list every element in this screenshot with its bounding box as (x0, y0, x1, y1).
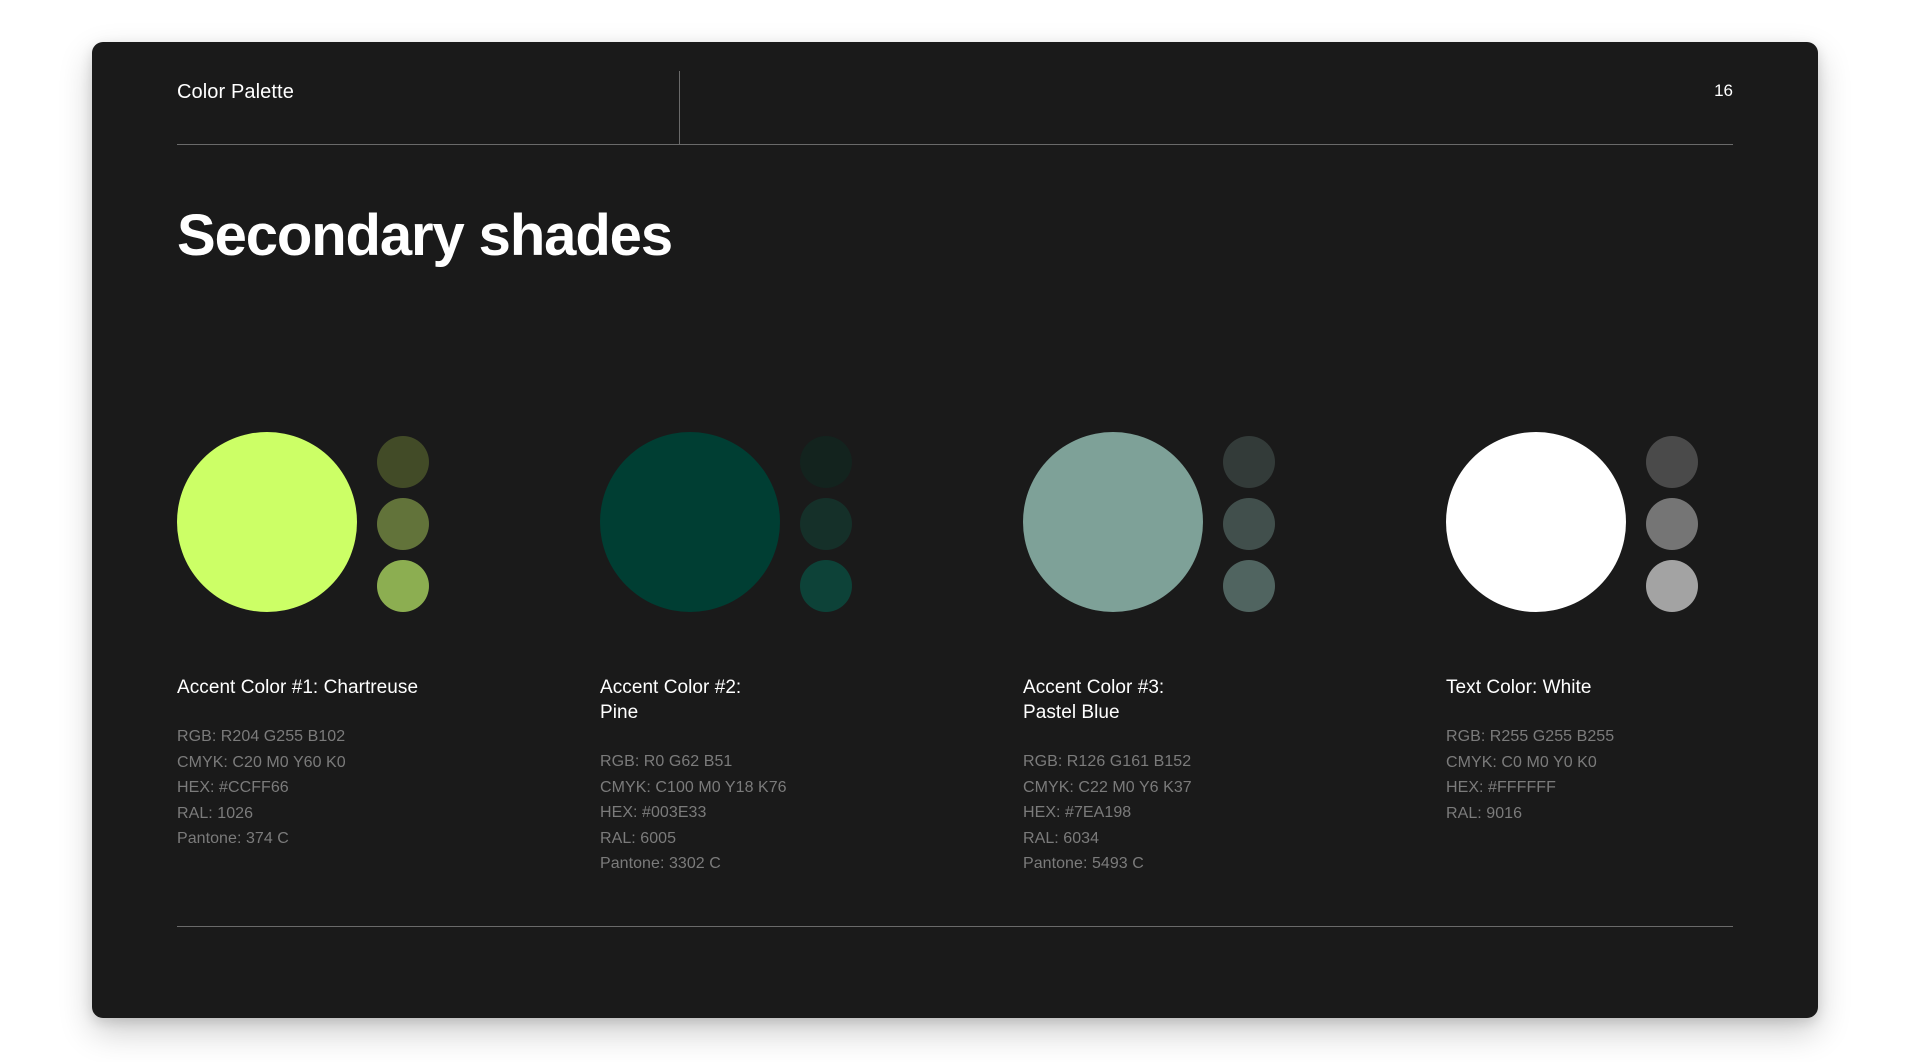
header-vertical-divider (679, 71, 680, 145)
palette-grid: Accent Color #1: ChartreuseRGB: R204 G25… (177, 432, 1733, 877)
header-title: Color Palette (177, 81, 294, 104)
swatch-shade-list (800, 432, 852, 612)
swatch-spec-line: RAL: 6034 (1023, 826, 1446, 852)
swatch-name: Accent Color #2: Pine (600, 675, 1023, 725)
swatch-spec-line: HEX: #7EA198 (1023, 800, 1446, 826)
page-title: Secondary shades (177, 204, 672, 268)
swatch-main-circle[interactable] (600, 432, 780, 612)
swatch-cluster (600, 432, 1023, 618)
swatch-shade-circle[interactable] (377, 560, 429, 612)
swatch-specs: RGB: R0 G62 B51CMYK: C100 M0 Y18 K76HEX:… (600, 749, 1023, 877)
footer-divider (177, 926, 1733, 927)
swatch-spec-line: HEX: #FFFFFF (1446, 775, 1818, 801)
slide-header: Color Palette 16 (177, 42, 1733, 145)
swatch-shade-circle[interactable] (1646, 498, 1698, 550)
swatch-spec-line: Pantone: 3302 C (600, 851, 1023, 877)
swatch-specs: RGB: R126 G161 B152CMYK: C22 M0 Y6 K37HE… (1023, 749, 1446, 877)
swatch-shade-circle[interactable] (1646, 436, 1698, 488)
swatch-specs: RGB: R255 G255 B255CMYK: C0 M0 Y0 K0HEX:… (1446, 724, 1818, 826)
palette-column: Accent Color #3: Pastel BlueRGB: R126 G1… (1023, 432, 1446, 877)
swatch-spec-line: CMYK: C20 M0 Y60 K0 (177, 750, 600, 776)
swatch-spec-line: Pantone: 5493 C (1023, 851, 1446, 877)
swatch-spec-line: CMYK: C22 M0 Y6 K37 (1023, 775, 1446, 801)
swatch-shade-circle[interactable] (1223, 436, 1275, 488)
swatch-shade-list (1646, 432, 1698, 612)
swatch-shade-circle[interactable] (800, 560, 852, 612)
swatch-shade-list (1223, 432, 1275, 612)
slide-card: Color Palette 16 Secondary shades Accent… (92, 42, 1818, 1018)
swatch-spec-line: RAL: 6005 (600, 826, 1023, 852)
swatch-shade-circle[interactable] (800, 498, 852, 550)
swatch-cluster (1446, 432, 1818, 618)
swatch-cluster (1023, 432, 1446, 618)
swatch-shade-circle[interactable] (377, 436, 429, 488)
swatch-shade-circle[interactable] (1223, 560, 1275, 612)
swatch-spec-line: RAL: 9016 (1446, 801, 1818, 827)
swatch-main-circle[interactable] (1446, 432, 1626, 612)
swatch-spec-line: CMYK: C0 M0 Y0 K0 (1446, 750, 1818, 776)
header-divider (177, 144, 1733, 145)
swatch-name: Accent Color #1: Chartreuse (177, 675, 600, 700)
swatch-spec-line: HEX: #CCFF66 (177, 775, 600, 801)
swatch-main-circle[interactable] (1023, 432, 1203, 612)
palette-column: Accent Color #1: ChartreuseRGB: R204 G25… (177, 432, 600, 877)
swatch-spec-line: CMYK: C100 M0 Y18 K76 (600, 775, 1023, 801)
swatch-shade-circle[interactable] (377, 498, 429, 550)
swatch-main-circle[interactable] (177, 432, 357, 612)
swatch-specs: RGB: R204 G255 B102CMYK: C20 M0 Y60 K0HE… (177, 724, 600, 852)
swatch-shade-circle[interactable] (1223, 498, 1275, 550)
swatch-cluster (177, 432, 600, 618)
page-number: 16 (1714, 81, 1733, 101)
swatch-spec-line: RGB: R126 G161 B152 (1023, 749, 1446, 775)
swatch-spec-line: Pantone: 374 C (177, 826, 600, 852)
swatch-spec-line: HEX: #003E33 (600, 800, 1023, 826)
palette-column: Accent Color #2: PineRGB: R0 G62 B51CMYK… (600, 432, 1023, 877)
swatch-name: Text Color: White (1446, 675, 1818, 700)
swatch-name: Accent Color #3: Pastel Blue (1023, 675, 1446, 725)
swatch-shade-list (377, 432, 429, 612)
swatch-spec-line: RGB: R255 G255 B255 (1446, 724, 1818, 750)
swatch-spec-line: RAL: 1026 (177, 801, 600, 827)
swatch-spec-line: RGB: R204 G255 B102 (177, 724, 600, 750)
swatch-shade-circle[interactable] (1646, 560, 1698, 612)
swatch-spec-line: RGB: R0 G62 B51 (600, 749, 1023, 775)
swatch-shade-circle[interactable] (800, 436, 852, 488)
palette-column: Text Color: WhiteRGB: R255 G255 B255CMYK… (1446, 432, 1818, 877)
